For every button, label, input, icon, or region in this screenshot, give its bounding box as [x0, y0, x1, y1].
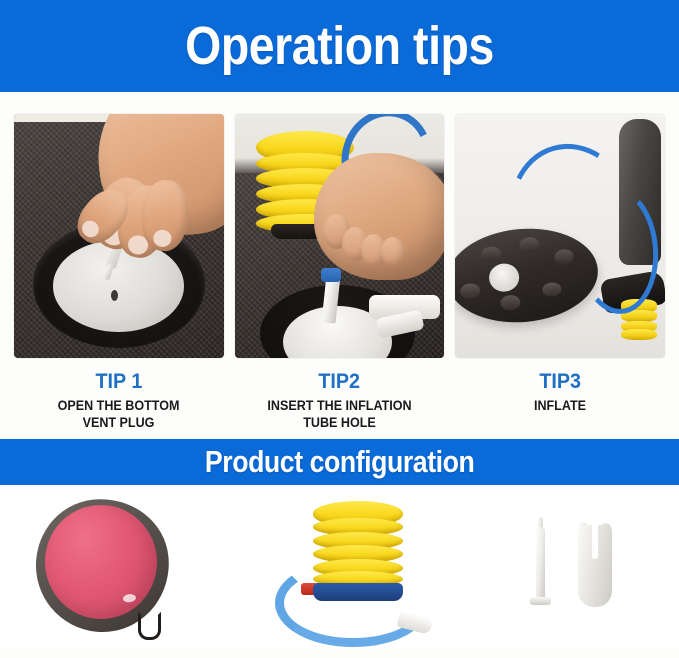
foot-pump: [275, 499, 435, 635]
tip-label-1: TIP 1: [95, 370, 142, 394]
tip-label-3: TIP3: [539, 370, 581, 394]
board-valve: [488, 262, 520, 292]
section-title: Product configuration: [205, 444, 474, 480]
tip-column-2: TIP2 INSERT THE INFLATION TUBE HOLE: [235, 114, 445, 432]
page-title: Operation tips: [185, 15, 494, 77]
tips-row: TIP 1 OPEN THE BOTTOM VENT PLUG: [0, 92, 679, 432]
product-configuration-banner: Product configuration: [0, 439, 679, 485]
thumbnail: [79, 217, 103, 241]
brand-logo: [123, 593, 137, 602]
valve-hole: [111, 290, 118, 301]
tip-caption-1: OPEN THE BOTTOM VENT PLUG: [58, 398, 180, 432]
hand-inserting-vent-plug-photo: [14, 114, 224, 358]
balance-cushion: [36, 499, 169, 632]
inserting-inflation-tube-photo: [235, 114, 445, 358]
board-foot-peg: [460, 283, 481, 299]
tip-column-1: TIP 1 OPEN THE BOTTOM VENT PLUG: [14, 114, 224, 432]
needle-base: [530, 597, 551, 605]
product-configuration-row: [0, 485, 679, 649]
blue-nozzle-collar: [321, 268, 341, 282]
inflating-board-photo: [455, 114, 665, 358]
board-foot-peg: [481, 245, 502, 261]
plug-removal-tool: [578, 525, 612, 607]
board-foot-peg: [500, 294, 521, 310]
fingernail: [153, 229, 173, 247]
inflation-needle: [536, 527, 545, 601]
operation-tips-banner: Operation tips: [0, 0, 679, 92]
accessories: [520, 513, 640, 623]
pump-blue-base: [313, 583, 403, 601]
pump-rib: [621, 329, 657, 340]
hand-fist: [314, 153, 444, 280]
tip-caption-3: INFLATE: [534, 398, 586, 415]
carry-strap: [138, 612, 161, 640]
yellow-bellows: [313, 501, 403, 585]
tip-column-3: TIP3 INFLATE: [455, 114, 665, 432]
fork-slot: [592, 525, 598, 559]
knuckle: [381, 237, 405, 267]
tip-caption-2: INSERT THE INFLATION TUBE HOLE: [267, 398, 411, 432]
tip-label-2: TIP2: [319, 370, 361, 394]
